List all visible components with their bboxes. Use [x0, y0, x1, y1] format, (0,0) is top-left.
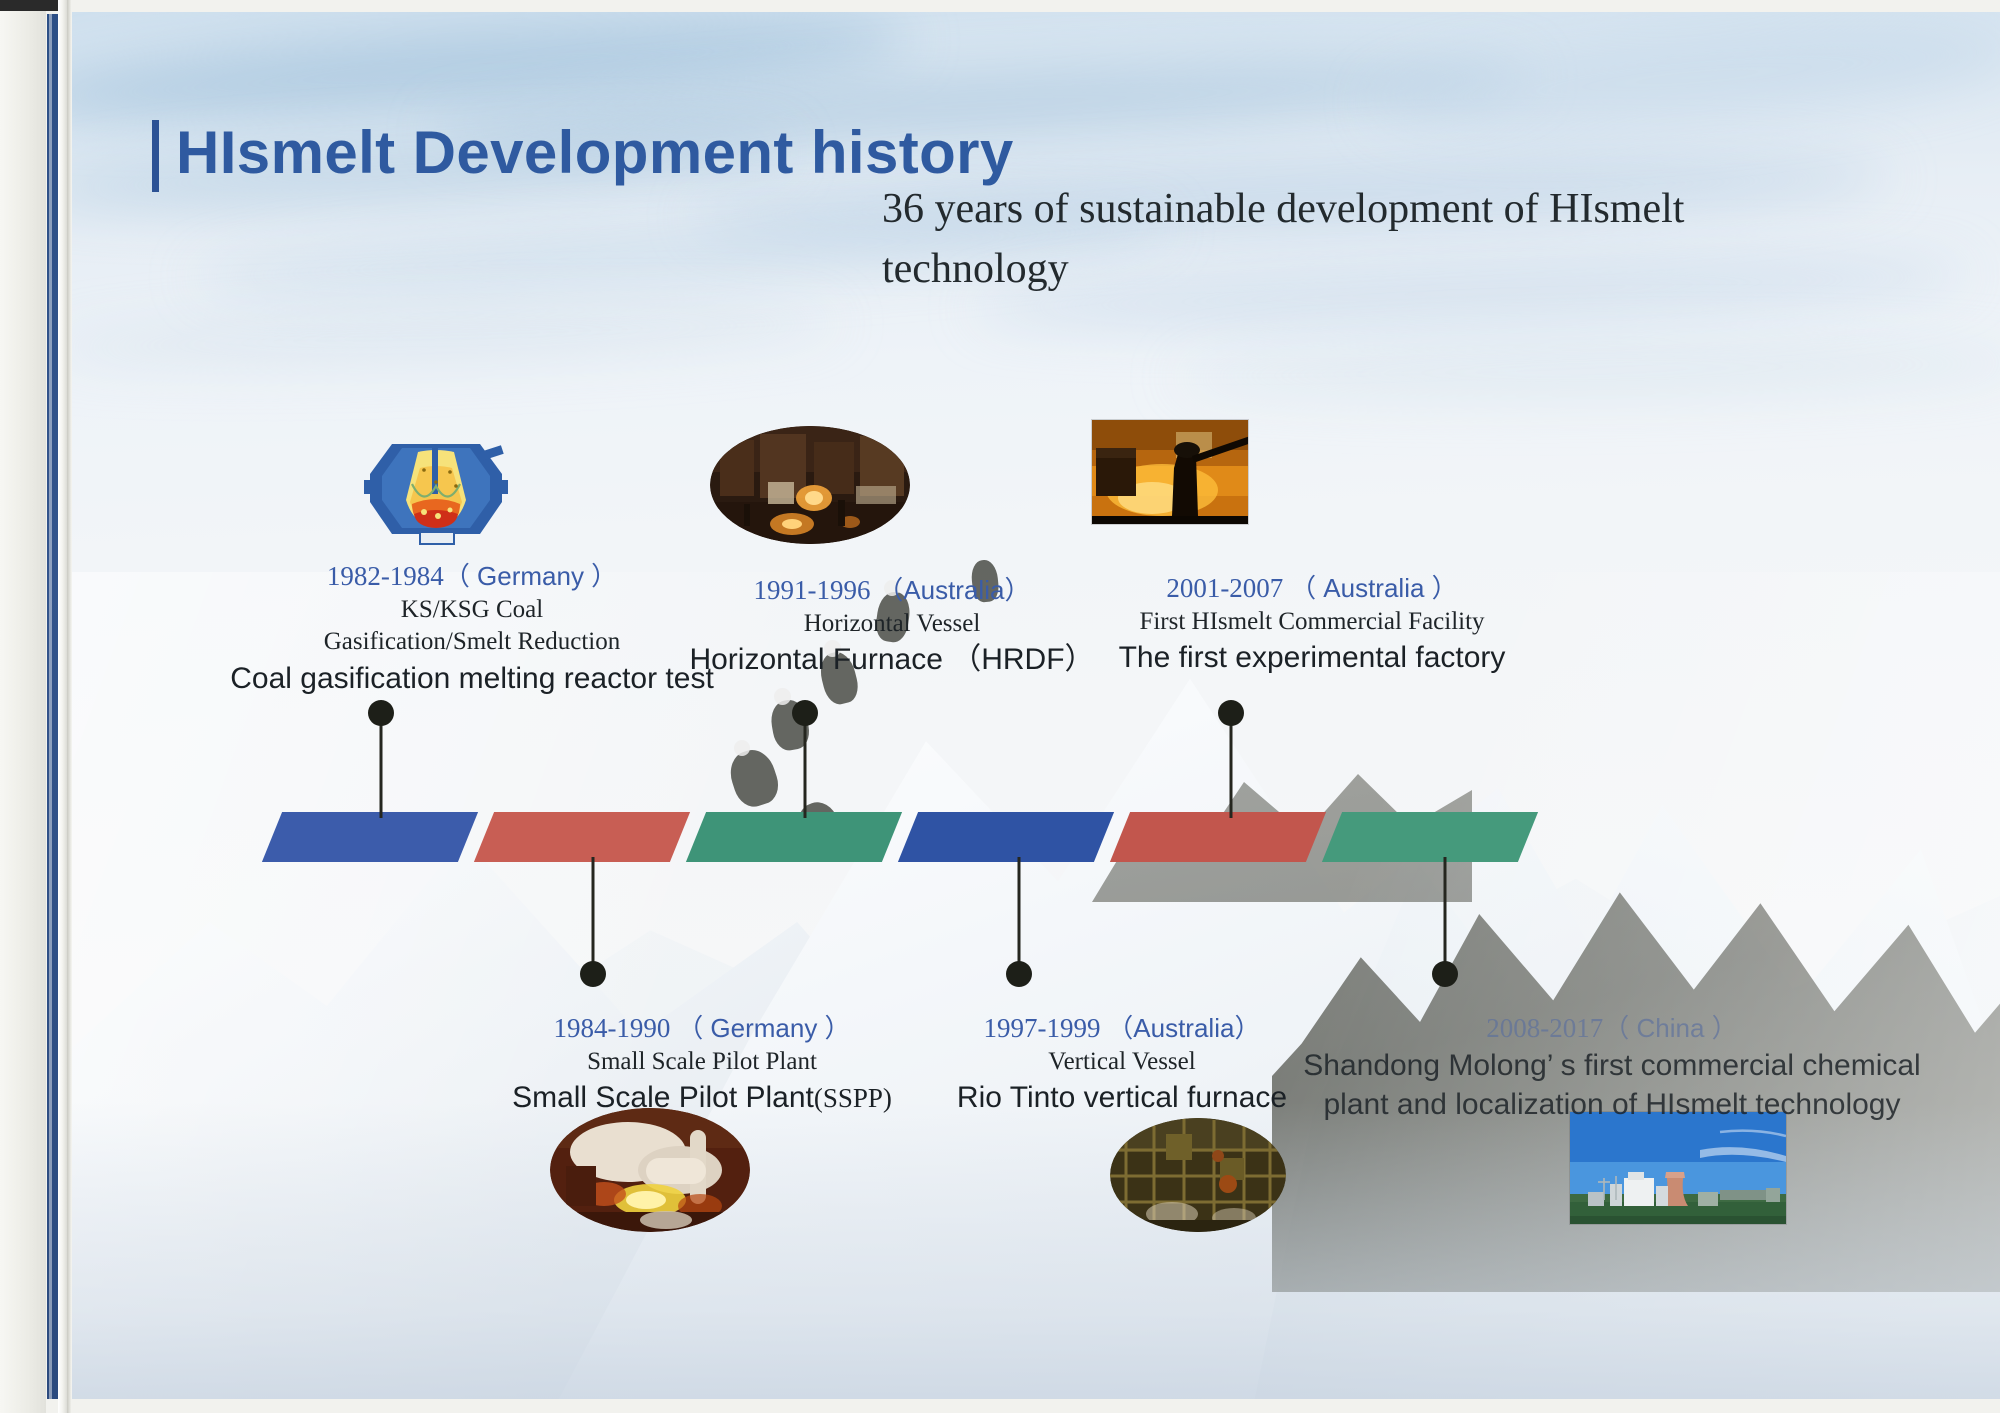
timeline-pin-1991-1996 — [792, 700, 818, 818]
timeline-pin-2001-2007 — [1218, 700, 1244, 818]
entry-years: 1982-1984 — [327, 561, 444, 591]
image-reactor-cutaway-diagram — [362, 422, 510, 552]
entry-headline: Horizontal Furnace （HRDF） — [662, 640, 1122, 680]
image-vertical-furnace-plant-photo — [1110, 1118, 1286, 1232]
plant-photo-oval — [710, 426, 910, 544]
entry-location: （ Germany ） — [444, 561, 617, 591]
entry-1991-1996: 1991-1996 （Australia） Horizontal Vessel … — [662, 574, 1122, 680]
page-top-edge — [0, 0, 60, 11]
page-title: HIsmelt Development history — [176, 118, 1014, 187]
entry-year-2001-2007: 2001-2007 （ Australia ） — [1072, 572, 1552, 606]
entry-year-1984-1990: 1984-1990 （ Germany ） — [452, 1012, 952, 1046]
entry-headline: The first experimental factory — [1072, 638, 1552, 678]
entry-location: （ China ） — [1603, 1013, 1737, 1043]
entry-subtitle-line1: Vertical Vessel — [892, 1046, 1352, 1079]
timeline-segment-4[interactable] — [898, 812, 1114, 862]
entry-year-1991-1996: 1991-1996 （Australia） — [662, 574, 1122, 608]
timeline-pin-1982-1984 — [368, 700, 394, 818]
timeline-pin-1997-1999 — [1006, 857, 1032, 987]
entry-1997-1999: 1997-1999 （Australia） Vertical Vessel Ri… — [892, 1012, 1352, 1118]
entry-headline: Small Scale Pilot Plant — [512, 1081, 814, 1114]
binder-spine-highlight — [49, 14, 52, 1399]
entry-location: （Australia） — [1107, 1013, 1260, 1043]
page-left-margin — [0, 0, 46, 1413]
image-horizontal-furnace-plant-photo — [710, 426, 910, 544]
molong-plant-photo — [1570, 1112, 1786, 1224]
slide-poster: HIsmelt Development history 36 years of … — [72, 12, 2000, 1399]
entry-headline: Rio Tinto vertical furnace — [892, 1078, 1352, 1118]
entry-year-2008-2017: 2008-2017（ China ） — [1302, 1012, 1922, 1046]
timeline-segment-1[interactable] — [262, 812, 478, 862]
entry-headline-line1: Shandong Molong’ s first commercial chem… — [1302, 1046, 1922, 1086]
climber-head — [774, 688, 791, 705]
entry-location: （Australia） — [877, 575, 1030, 605]
entry-2008-2017: 2008-2017（ China ） Shandong Molong’ s fi… — [1302, 1012, 1922, 1125]
image-steelworker-molten-metal-photo — [1092, 420, 1248, 524]
title-accent-bar — [152, 120, 159, 192]
entry-years: 2001-2007 — [1166, 573, 1283, 603]
entry-years: 1997-1999 — [984, 1013, 1101, 1043]
entry-headline-line2: plant and localization of HIsmelt techno… — [1302, 1085, 1922, 1125]
vertical-furnace-photo-oval — [1110, 1118, 1286, 1232]
entry-headline-suffix: (SSPP) — [814, 1083, 892, 1113]
steelworker-photo — [1092, 420, 1248, 524]
timeline-pin-2008-2017 — [1432, 857, 1458, 987]
timeline-segment-2[interactable] — [474, 812, 690, 862]
timeline-segment-6[interactable] — [1322, 812, 1538, 862]
entry-years: 1984-1990 — [553, 1013, 670, 1043]
entry-subtitle-line1: First HIsmelt Commercial Facility — [1072, 606, 1552, 639]
page-gutter — [58, 0, 67, 1413]
entry-headline-row: Small Scale Pilot Plant(SSPP) — [452, 1078, 952, 1118]
entry-2001-2007: 2001-2007 （ Australia ） First HIsmelt Co… — [1072, 572, 1552, 678]
entry-subtitle-line1: Horizontal Vessel — [662, 608, 1122, 641]
timeline-segment-3[interactable] — [686, 812, 902, 862]
climber-head — [734, 740, 750, 756]
image-pilot-plant-furnace-photo — [550, 1108, 750, 1232]
entry-location: （ Australia ） — [1290, 573, 1458, 603]
entry-subtitle-line1: Small Scale Pilot Plant — [452, 1046, 952, 1079]
entry-years: 2008-2017 — [1486, 1013, 1603, 1043]
reactor-cutaway-icon — [362, 422, 510, 552]
entry-year-1997-1999: 1997-1999 （Australia） — [892, 1012, 1352, 1046]
entry-location: （ Germany ） — [677, 1013, 850, 1043]
entry-years: 1991-1996 — [754, 575, 871, 605]
timeline-pin-1984-1990 — [580, 857, 606, 987]
pilot-plant-photo-oval — [550, 1108, 750, 1232]
entry-1984-1990: 1984-1990 （ Germany ） Small Scale Pilot … — [452, 1012, 952, 1118]
page-subtitle: 36 years of sustainable development of H… — [882, 180, 1712, 299]
image-molong-plant-cooling-tower-photo — [1570, 1112, 1786, 1224]
scanned-page: HIsmelt Development history 36 years of … — [0, 0, 2000, 1413]
page-gutter-line — [67, 0, 71, 1413]
timeline-segment-5[interactable] — [1110, 812, 1326, 862]
